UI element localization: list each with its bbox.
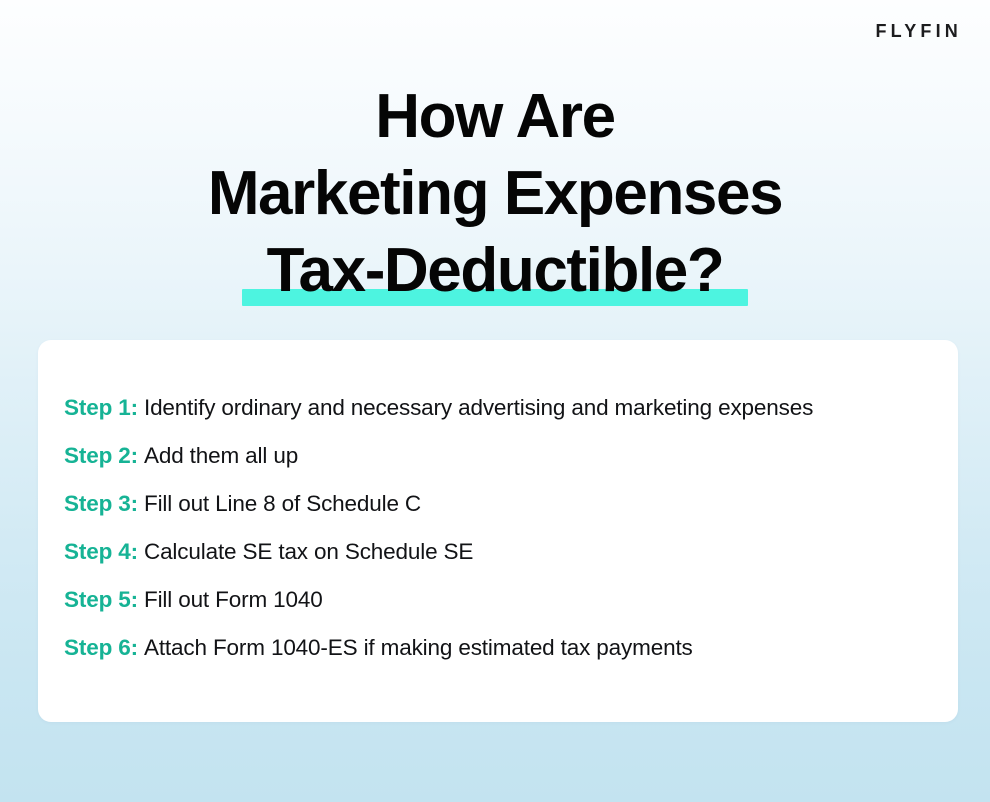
list-item: Step 1:Identify ordinary and necessary a… [64, 384, 918, 432]
step-label: Step 2: [64, 443, 138, 468]
infographic-canvas: FLYFIN How Are Marketing Expenses Tax-De… [0, 0, 990, 802]
headline-line-2-text: Marketing Expenses [208, 155, 782, 232]
step-text: Add them all up [144, 443, 298, 468]
page-title: How Are Marketing Expenses Tax-Deductibl… [0, 78, 990, 309]
headline-line-3: Tax-Deductible? [0, 232, 990, 309]
list-item: Step 6:Attach Form 1040-ES if making est… [64, 624, 918, 672]
list-item: Step 4:Calculate SE tax on Schedule SE [64, 528, 918, 576]
headline-line-1-text: How Are [375, 78, 614, 155]
step-label: Step 1: [64, 395, 138, 420]
step-text: Fill out Line 8 of Schedule C [144, 491, 421, 516]
step-text: Fill out Form 1040 [144, 587, 323, 612]
step-label: Step 3: [64, 491, 138, 516]
list-item: Step 3:Fill out Line 8 of Schedule C [64, 480, 918, 528]
headline-line-2: Marketing Expenses [0, 155, 990, 232]
step-label: Step 4: [64, 539, 138, 564]
list-item: Step 5:Fill out Form 1040 [64, 576, 918, 624]
step-text: Calculate SE tax on Schedule SE [144, 539, 473, 564]
flyfin-logo: FLYFIN [875, 22, 962, 40]
step-text: Attach Form 1040-ES if making estimated … [144, 635, 693, 660]
list-item: Step 2:Add them all up [64, 432, 918, 480]
headline-line-3-text: Tax-Deductible? [267, 232, 724, 309]
headline-line-1: How Are [0, 78, 990, 155]
steps-list: Step 1:Identify ordinary and necessary a… [64, 384, 918, 672]
step-text: Identify ordinary and necessary advertis… [144, 395, 813, 420]
step-label: Step 6: [64, 635, 138, 660]
step-label: Step 5: [64, 587, 138, 612]
steps-card: Step 1:Identify ordinary and necessary a… [38, 340, 958, 722]
